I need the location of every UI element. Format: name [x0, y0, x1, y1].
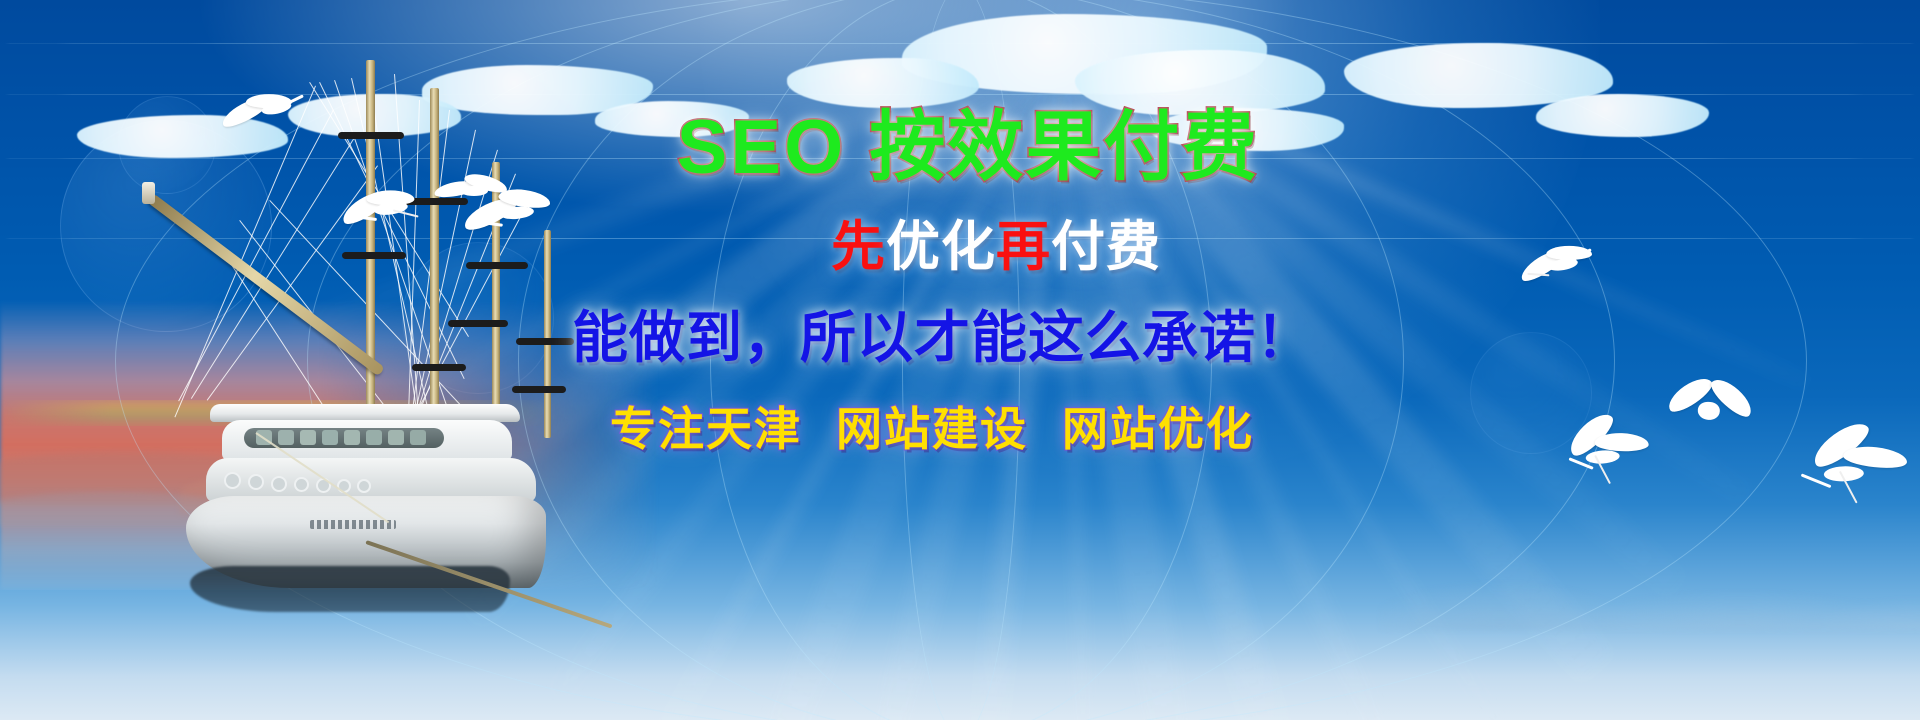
headline-en: SEO	[677, 105, 847, 190]
mast	[430, 88, 439, 428]
flying-egret	[454, 183, 559, 245]
subheadline: 先优化再付费	[712, 220, 1280, 274]
service-item-3: 网站优化	[1062, 403, 1254, 455]
promise-text: 能做到，所以才能这么承诺！	[572, 310, 1280, 366]
bowsprit-tip	[142, 182, 155, 204]
subheadline-part-4: 付费	[1051, 217, 1161, 277]
flying-egret	[1788, 428, 1917, 528]
subheadline-part-1: 先	[831, 217, 886, 277]
continent-shape	[1536, 94, 1709, 137]
flying-egret	[1660, 377, 1760, 440]
services-text: 专注天津网站建设网站优化	[584, 406, 1280, 452]
subheadline-part-2: 优化	[886, 217, 996, 277]
service-item-2: 网站建设	[836, 403, 1028, 455]
continent-shape	[787, 58, 979, 108]
headline: SEO 按效果付费	[656, 110, 1280, 186]
subheadline-part-3: 再	[996, 217, 1051, 277]
marketing-copy: SEO 按效果付费 先优化再付费 能做到，所以才能这么承诺！ 专注天津网站建设网…	[560, 110, 1280, 452]
headline-cn: 按效果付费	[869, 105, 1259, 190]
seo-promotion-banner: SEO 按效果付费 先优化再付费 能做到，所以才能这么承诺！ 专注天津网站建设网…	[0, 0, 1920, 720]
flying-egret	[1553, 414, 1667, 507]
service-item-1: 专注天津	[610, 403, 802, 455]
